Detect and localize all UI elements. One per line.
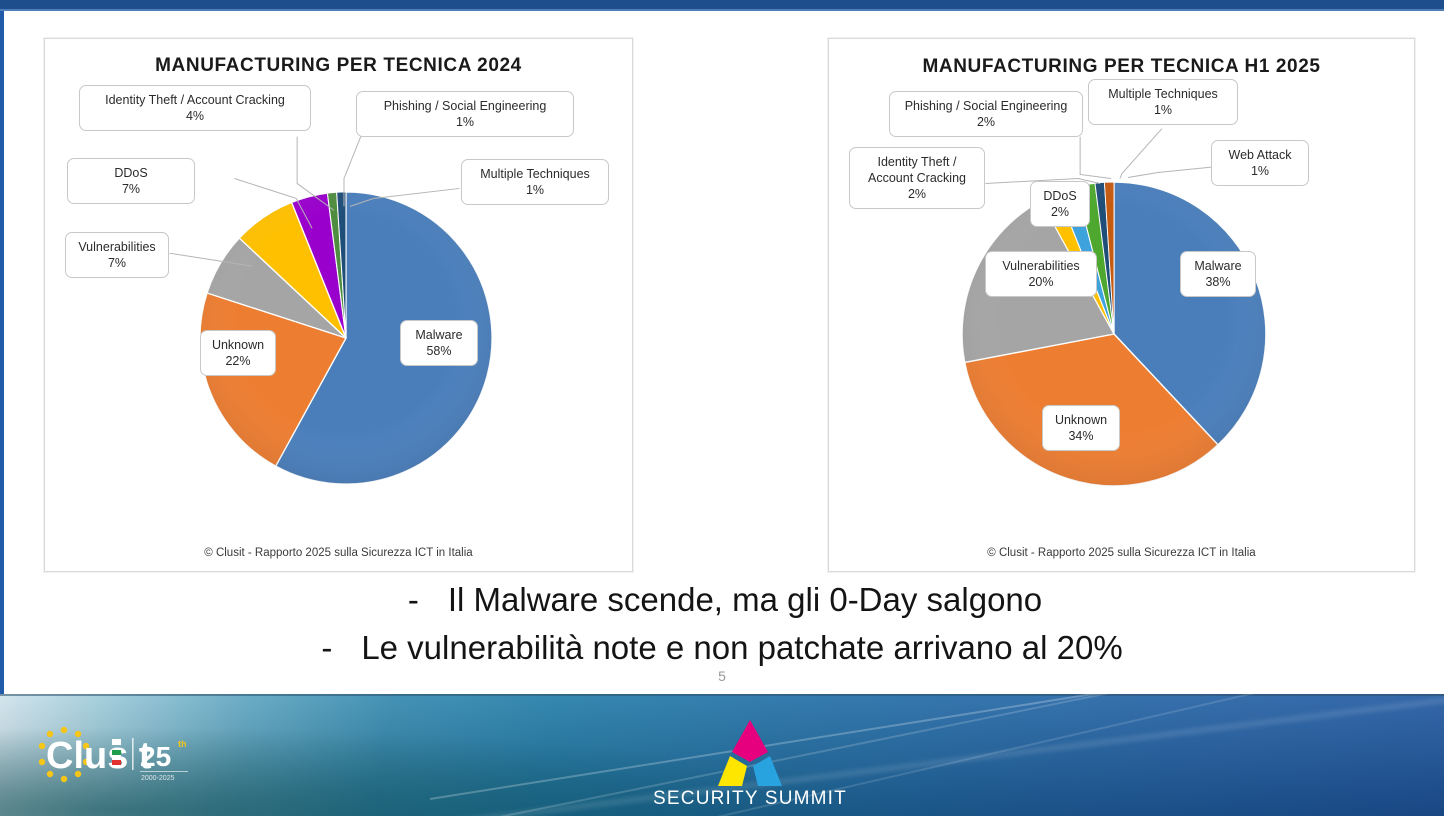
callout-percent: 38%: [1190, 274, 1246, 290]
callout-label: DDoS: [1043, 189, 1076, 203]
callout-percent: 4%: [89, 108, 301, 124]
bullet-dash: -: [321, 624, 361, 672]
anniversary-underline: [140, 771, 188, 772]
callout-multiple-techniques-h1-2025: Multiple Techniques 1%: [1088, 79, 1238, 125]
callout-label: Vulnerabilities: [78, 240, 155, 254]
bullet-item-1: -Il Malware scende, ma gli 0-Day salgono: [0, 576, 1444, 624]
security-summit-logo: SECURITY SUMMIT: [650, 714, 850, 806]
callout-percent: 20%: [995, 274, 1087, 290]
callout-label: DDoS: [114, 166, 147, 180]
chart-title-h1-2025: MANUFACTURING PER TECNICA H1 2025: [829, 56, 1414, 78]
callout-label-2: Account Cracking: [859, 170, 975, 186]
callout-ddos-h1-2025: DDoS 2%: [1030, 181, 1090, 227]
bullet-item-2: -Le vulnerabilità note e non patchate ar…: [0, 624, 1444, 672]
flag-green: [112, 750, 121, 755]
security-summit-wordmark: SECURITY SUMMIT: [653, 788, 847, 806]
callout-multiple-techniques-2024: Multiple Techniques 1%: [461, 159, 609, 205]
slide: MANUFACTURING PER TECNICA 2024: [0, 0, 1444, 816]
flag-white: [112, 739, 121, 745]
callout-malware-2024: Malware 58%: [400, 320, 478, 366]
callout-percent: 1%: [1098, 102, 1228, 118]
callout-percent: 22%: [210, 353, 266, 369]
callout-label: Multiple Techniques: [1108, 87, 1218, 101]
clusit-wordmark: Clus t: [46, 735, 152, 777]
flag-white-2: [112, 755, 121, 760]
chart-panel-h1-2025: MANUFACTURING PER TECNICA H1 2025: [828, 38, 1415, 572]
callout-percent: 7%: [75, 255, 159, 271]
clusit-anniversary-sup: th: [178, 739, 187, 749]
callout-ddos-2024: DDoS 7%: [67, 158, 195, 204]
clusit-logo-svg: Clus t 25 th 2000-2025: [20, 722, 260, 790]
callout-unknown-h1-2025: Unknown 34%: [1042, 405, 1120, 451]
callout-label: Vulnerabilities: [1002, 259, 1079, 273]
chart-panel-2024: MANUFACTURING PER TECNICA 2024: [44, 38, 633, 572]
callout-label: Phishing / Social Engineering: [905, 99, 1068, 113]
ss-quad-cyan-icon: [753, 756, 782, 786]
bullet-list: -Il Malware scende, ma gli 0-Day salgono…: [0, 576, 1444, 672]
callout-label: Malware: [415, 328, 462, 342]
chart-source-h1-2025: © Clusit - Rapporto 2025 sulla Sicurezza…: [829, 547, 1414, 559]
callout-malware-h1-2025: Malware 38%: [1180, 251, 1256, 297]
bullet-dash: -: [408, 576, 448, 624]
callout-label: Phishing / Social Engineering: [384, 99, 547, 113]
callout-vulnerabilities-h1-2025: Vulnerabilities 20%: [985, 251, 1097, 297]
callout-vulnerabilities-2024: Vulnerabilities 7%: [65, 232, 169, 278]
ss-triangle-magenta-icon: [732, 720, 768, 762]
callout-label: Web Attack: [1229, 148, 1292, 162]
callout-percent: 2%: [899, 114, 1073, 130]
callout-label: Unknown: [212, 338, 264, 352]
callout-percent: 7%: [77, 181, 185, 197]
chart-source-2024: © Clusit - Rapporto 2025 sulla Sicurezza…: [45, 547, 632, 559]
security-summit-logo-svg: SECURITY SUMMIT: [650, 714, 850, 806]
callout-percent: 1%: [366, 114, 564, 130]
callout-label: Identity Theft /: [878, 155, 957, 169]
flag-red: [112, 760, 121, 765]
callout-unknown-2024: Unknown 22%: [200, 330, 276, 376]
callout-percent: 1%: [471, 182, 599, 198]
callout-percent: 58%: [410, 343, 468, 359]
callout-percent: 1%: [1221, 163, 1299, 179]
clusit-anniversary-years: 2000-2025: [141, 775, 175, 782]
callout-identity-theft-h1-2025: Identity Theft / Account Cracking 2%: [849, 147, 985, 209]
clusit-anniversary-number: 25: [140, 741, 171, 772]
clusit-logo: Clus t 25 th 2000-2025: [20, 722, 260, 790]
ss-quad-yellow-icon: [718, 756, 747, 786]
callout-web-attack-h1-2025: Web Attack 1%: [1211, 140, 1309, 186]
callout-percent: 34%: [1052, 428, 1110, 444]
chart-title-2024: MANUFACTURING PER TECNICA 2024: [45, 55, 632, 77]
callout-identity-theft-2024: Identity Theft / Account Cracking 4%: [79, 85, 311, 131]
logo-divider: [132, 738, 134, 770]
callout-percent: 2%: [859, 186, 975, 202]
callout-phishing-2024: Phishing / Social Engineering 1%: [356, 91, 574, 137]
bullet-text: Il Malware scende, ma gli 0-Day salgono: [448, 581, 1042, 618]
callout-percent: 2%: [1040, 204, 1080, 220]
callout-label: Unknown: [1055, 413, 1107, 427]
top-accent-bar-edge: [0, 9, 1444, 11]
page-number: 5: [0, 668, 1444, 684]
top-accent-bar: [0, 0, 1444, 9]
callout-label: Malware: [1194, 259, 1241, 273]
callout-label: Multiple Techniques: [480, 167, 590, 181]
callout-phishing-h1-2025: Phishing / Social Engineering 2%: [889, 91, 1083, 137]
bullet-text: Le vulnerabilità note e non patchate arr…: [361, 629, 1122, 666]
callout-label: Identity Theft / Account Cracking: [105, 93, 285, 107]
